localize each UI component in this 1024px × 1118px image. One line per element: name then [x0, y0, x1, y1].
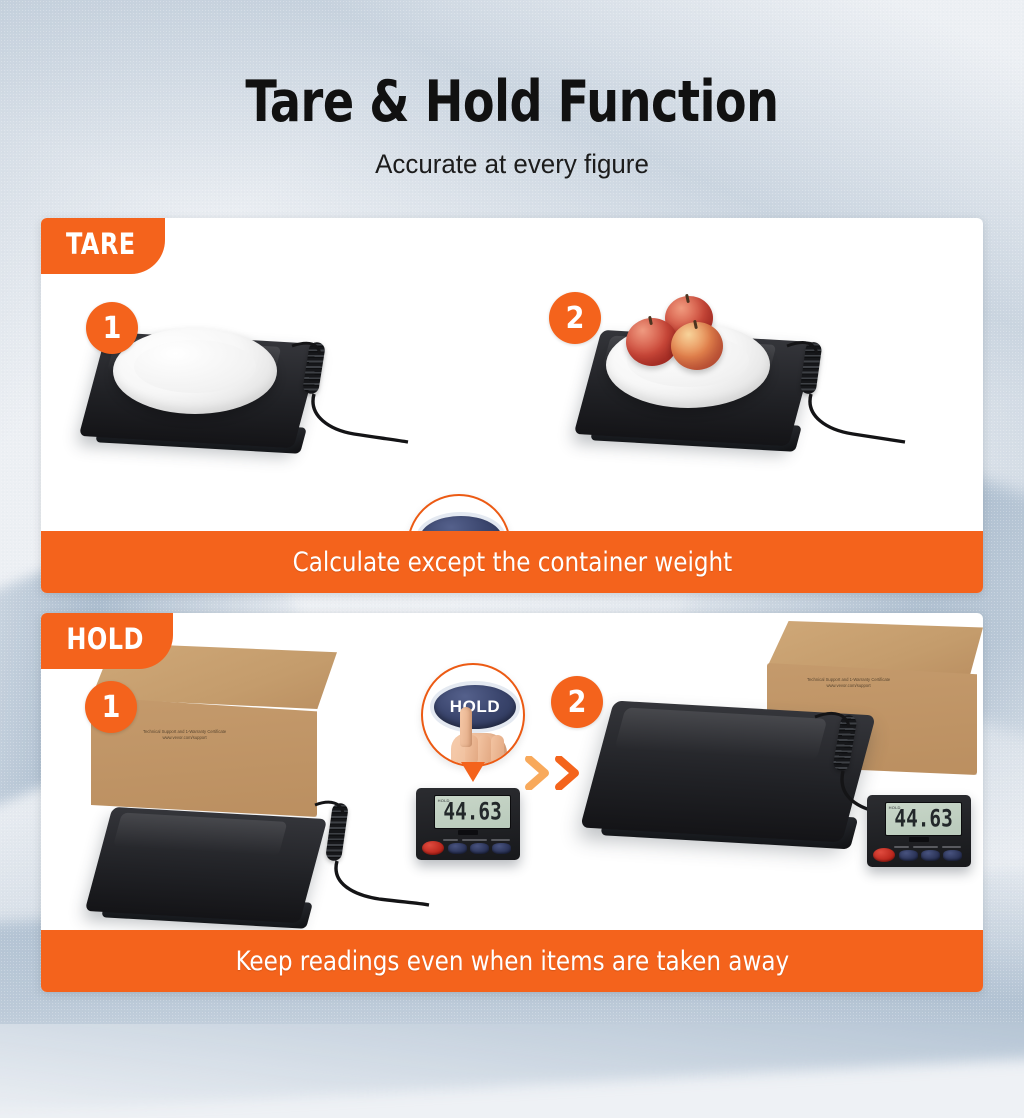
box-print-hold-2: Technical Support and 1-Warranty Certifi… — [807, 677, 890, 690]
unit-button-3-hold-1[interactable] — [492, 843, 511, 854]
tare-key-label: TARE — [437, 528, 484, 531]
display-unit-hold-1[interactable]: HOLD 44.63 — [416, 788, 520, 860]
panel-tare: TARE 1 TARE — [41, 218, 983, 593]
header: Tare & Hold Function Accurate at every f… — [0, 0, 1024, 180]
apple-left — [626, 318, 678, 366]
box-print-hold-1: Technical Support and 1-Warranty Certifi… — [143, 729, 226, 742]
unit-printed-label-hold-2 — [894, 845, 961, 849]
badge-hold-label: HOLD — [66, 622, 144, 656]
power-button-hold-1[interactable] — [422, 841, 444, 855]
caption-hold: Keep readings even when items are taken … — [41, 930, 983, 992]
lcd-screen-hold-2: HOLD 44.63 — [885, 802, 962, 836]
stage-hold: 1 Technical Support and 1-Warranty Certi… — [41, 613, 983, 930]
panel-hold: HOLD 1 Technical Support and 1-Warranty … — [41, 613, 983, 992]
pointing-hand-icon — [447, 707, 509, 767]
power-button-hold-2[interactable] — [873, 848, 895, 862]
step-number-tare-2: 2 — [549, 292, 601, 344]
callout-bubble-hold: HOLD — [421, 663, 525, 767]
step-number-hold-1: 1 — [85, 681, 137, 733]
callout-pointer-hold — [461, 762, 485, 782]
caption-tare: Calculate except the container weight — [41, 531, 983, 593]
badge-hold: HOLD — [41, 613, 173, 669]
caption-tare-text: Calculate except the container weight — [292, 547, 732, 578]
apple-right — [671, 322, 723, 370]
lcd-value-hold-2: 44.63 — [894, 807, 952, 831]
stage-tare: 1 TARE — [41, 218, 983, 531]
step-number-tare-1: 1 — [86, 302, 138, 354]
caption-hold-text: Keep readings even when items are taken … — [235, 946, 789, 977]
page-subtitle: Accurate at every figure — [20, 149, 1003, 180]
unit-button-3-hold-2[interactable] — [943, 850, 962, 861]
unit-button-1-hold-1[interactable] — [448, 843, 467, 854]
plate-empty-tare-1 — [113, 328, 277, 414]
unit-button-1-hold-2[interactable] — [899, 850, 918, 861]
lcd-value-hold-1: 44.63 — [443, 800, 501, 824]
unit-printed-label-hold-1 — [443, 838, 510, 842]
unit-button-2-hold-1[interactable] — [470, 843, 489, 854]
page-title: Tare & Hold Function — [51, 74, 973, 131]
tare-key-button[interactable]: TARE — [420, 516, 502, 531]
arrow-hold — [525, 756, 581, 790]
unit-button-2-hold-2[interactable] — [921, 850, 940, 861]
display-unit-hold-2[interactable]: HOLD 44.63 — [867, 795, 971, 867]
step-number-hold-2: 2 — [551, 676, 603, 728]
badge-tare-label: TARE — [66, 227, 136, 261]
lcd-screen-hold-1: HOLD 44.63 — [434, 795, 511, 829]
callout-bubble-tare: TARE — [407, 494, 511, 531]
badge-tare: TARE — [41, 218, 165, 274]
